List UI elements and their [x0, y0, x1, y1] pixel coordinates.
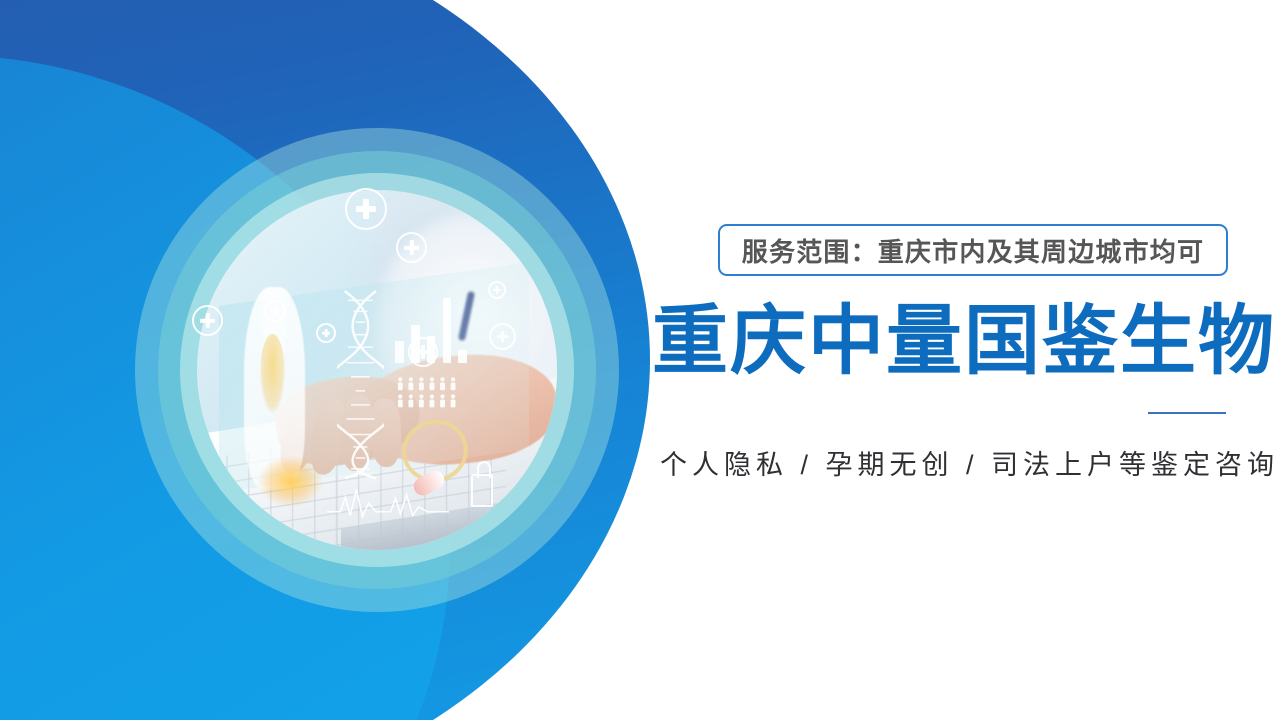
medical-plus-icon [488, 281, 506, 299]
poster-canvas: 服务范围：重庆市内及其周边城市均可 重庆中量国鉴生物 个人隐私 / 孕期无创 /… [0, 0, 1280, 720]
people-grid-icon [395, 370, 474, 420]
hero-photo-circle [197, 190, 557, 550]
medical-plus-icon [489, 323, 516, 350]
company-title: 重庆中量国鉴生物 [652, 304, 1252, 380]
light-glow [258, 456, 323, 506]
medical-plus-icon [408, 337, 438, 367]
service-scope-badge: 服务范围：重庆市内及其周边城市均可 [718, 224, 1228, 276]
medical-plus-icon [264, 300, 286, 322]
services-subtitle: 个人隐私 / 孕期无创 / 司法上户等鉴定咨询 [660, 443, 1260, 482]
medical-plus-icon [396, 232, 427, 263]
bar [443, 298, 452, 363]
lock-icon [471, 474, 493, 507]
content-pane: 服务范围：重庆市内及其周边城市均可 重庆中量国鉴生物 个人隐私 / 孕期无创 /… [640, 0, 1280, 720]
bar [458, 350, 467, 363]
medical-plus-icon [316, 323, 336, 343]
medical-plus-icon [192, 305, 223, 336]
dna-helix-icon [337, 273, 384, 496]
bar [395, 341, 404, 363]
title-divider [1148, 412, 1226, 414]
medical-plus-icon [345, 188, 387, 230]
